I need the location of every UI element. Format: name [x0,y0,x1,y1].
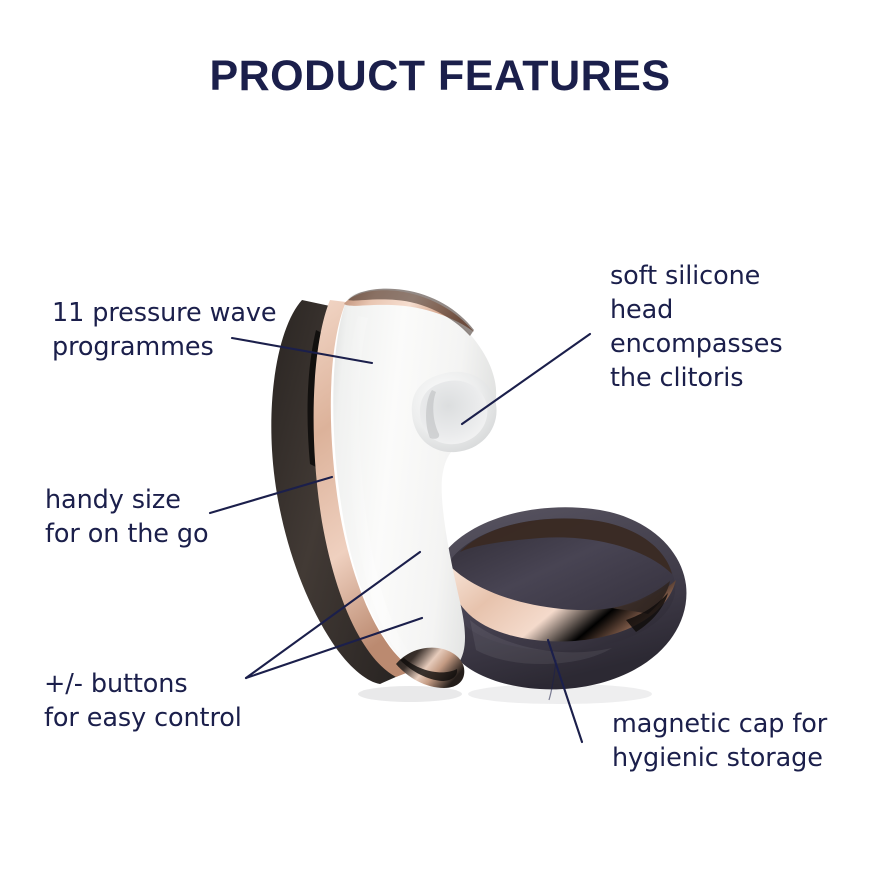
cap-ground-shadow [468,684,652,704]
feature-label-magnetic-cap: magnetic cap for hygienic storage [612,708,827,776]
silicone-head [412,372,497,452]
feature-label-handy-size: handy size for on the go [45,484,208,552]
feature-label-soft-silicone: soft silicone head encompasses the clito… [610,260,783,396]
magnetic-cap [435,507,686,700]
feature-label-pressure-wave: 11 pressure wave programmes [52,297,276,365]
feature-label-buttons: +/- buttons for easy control [44,668,242,736]
infographic-canvas: PRODUCT FEATURES [0,0,880,880]
handset-ground-shadow [358,686,462,702]
